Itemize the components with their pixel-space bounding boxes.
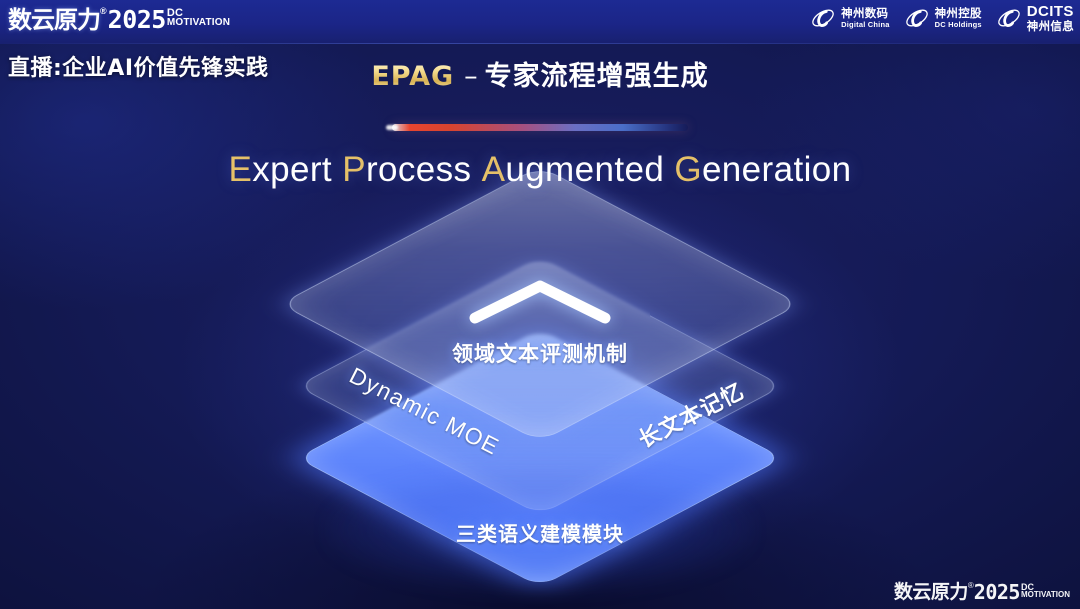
swirl-logo-icon — [996, 5, 1022, 31]
partner-name-cn: 神州信息 — [1027, 20, 1074, 32]
live-stream-title: 直播:企业AI价值先锋实践 — [8, 50, 269, 82]
watermark-year: 2025 — [974, 581, 1020, 603]
partner-logo-group: 神州数码 Digital China 神州控股 DC Holdings — [810, 4, 1074, 32]
slide-subtitle: Expert Process Augmented Generation — [0, 150, 1080, 190]
watermark-dc-motivation: DC MOTIVATION — [1021, 581, 1070, 599]
swirl-logo-icon — [810, 5, 836, 31]
subtitle-cap-e: E — [229, 150, 253, 189]
brand-dc-motivation: DC MOTIVATION — [167, 6, 230, 28]
subtitle-rest-process: rocess — [366, 150, 472, 189]
brand-logo: 数云原力 ® 2025 DC MOTIVATION — [8, 6, 230, 34]
stack-label-bottom: 三类语义建模模块 — [456, 518, 624, 547]
footer-watermark-logo: 数云原力 ® 2025 DC MOTIVATION — [894, 581, 1070, 603]
partner-label: 神州数码 Digital China — [841, 7, 889, 28]
stack-label-top: 领域文本评测机制 — [452, 338, 628, 368]
brand-dc-line2: MOTIVATION — [167, 18, 230, 28]
subtitle-cap-g: G — [674, 150, 702, 189]
brand-year: 2025 — [108, 6, 166, 34]
subtitle-cap-a: A — [482, 150, 506, 189]
partner-name-cn: 神州数码 — [841, 7, 889, 19]
heading-subtitle-cn: 专家流程增强生成 — [485, 61, 709, 92]
partner-label: DCITS 神州信息 — [1027, 4, 1074, 32]
partner-label: 神州控股 DC Holdings — [935, 7, 982, 28]
layered-stack-diagram: 领域文本评测机制 Dynamic MOE 长文本记忆 三类语义建模模块 — [280, 240, 800, 580]
partner-digital-china: 神州数码 Digital China — [810, 5, 889, 31]
gradient-divider — [392, 124, 688, 131]
partner-dc-holdings: 神州控股 DC Holdings — [904, 5, 982, 31]
subtitle-rest-generation: eneration — [702, 150, 852, 189]
subtitle-rest-augmented: ugmented — [505, 150, 664, 189]
heading-acronym: EPAG — [371, 61, 458, 92]
subtitle-cap-p: P — [342, 150, 366, 189]
brand-registered-mark: ® — [100, 6, 107, 16]
partner-name-cn: 神州控股 — [935, 7, 982, 19]
partner-name-en: DC Holdings — [935, 21, 982, 29]
partner-name-en: DCITS — [1027, 4, 1074, 20]
watermark-name-cn: 数云原力 — [894, 581, 968, 603]
partner-name-en: Digital China — [841, 21, 889, 29]
swirl-logo-icon — [904, 5, 930, 31]
chevron-up-icon — [465, 274, 615, 326]
subtitle-rest-expert: xpert — [252, 150, 332, 189]
partner-dcits: DCITS 神州信息 — [996, 4, 1074, 32]
brand-name-cn: 数云原力 — [8, 6, 100, 34]
heading-dash: – — [458, 61, 485, 92]
watermark-dc-line2: MOTIVATION — [1021, 591, 1070, 599]
slide-canvas: 数云原力 ® 2025 DC MOTIVATION 直播:企业AI价值先锋实践 … — [0, 0, 1080, 609]
